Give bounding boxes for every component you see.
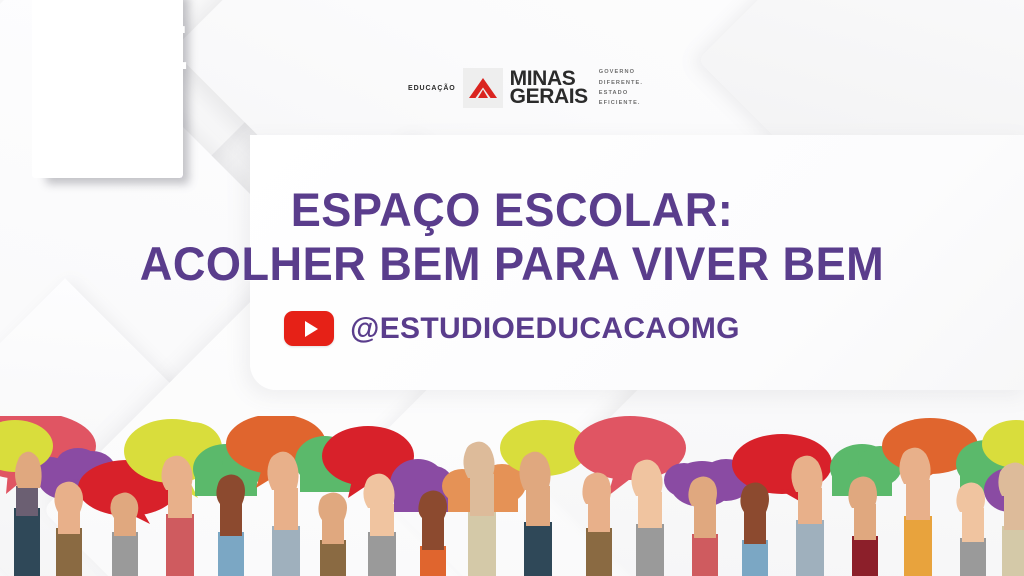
tagline-line-4: EFICIENTE. — [599, 98, 643, 108]
title-line-2: ACOLHER BEM PARA VIVER BEM — [20, 237, 1003, 291]
youtube-handle-label: @ESTUDIOEDUCACAOMG — [350, 312, 740, 346]
minas-gerais-chevron-icon — [463, 68, 503, 108]
youtube-play-icon[interactable] — [284, 311, 334, 346]
live-date: 06/05 — [75, 107, 148, 137]
raised-hands-illustration — [0, 416, 1024, 576]
tagline-line-2: DIFERENTE. — [599, 78, 643, 88]
logo-tagline: GOVERNO DIFERENTE. ESTADO EFICIENTE. — [599, 67, 643, 108]
promo-banner: LIVE 06/05 9h30 EDUCAÇÃO MINAS GERAIS GO… — [0, 0, 1024, 576]
logo-line-2: GERAIS — [510, 88, 588, 106]
minas-gerais-wordmark: MINAS GERAIS — [510, 70, 588, 106]
live-divider — [64, 92, 160, 98]
tagline-line-3: ESTADO — [599, 88, 643, 98]
play-triangle-icon — [305, 321, 318, 337]
educacao-label: EDUCAÇÃO — [408, 85, 456, 92]
page-title: ESPAÇO ESCOLAR: ACOLHER BEM PARA VIVER B… — [0, 183, 1024, 291]
title-line-1: ESPAÇO ESCOLAR: — [20, 183, 1003, 237]
live-badge: LIVE 06/05 9h30 — [40, 0, 183, 178]
minas-gerais-logo: EDUCAÇÃO MINAS GERAIS GOVERNO DIFERENTE.… — [408, 64, 643, 112]
live-label: LIVE — [34, 20, 190, 79]
live-time: 9h30 — [79, 137, 145, 167]
tagline-line-1: GOVERNO — [599, 67, 643, 77]
youtube-handle-row[interactable]: @ESTUDIOEDUCACAOMG — [0, 311, 1024, 346]
